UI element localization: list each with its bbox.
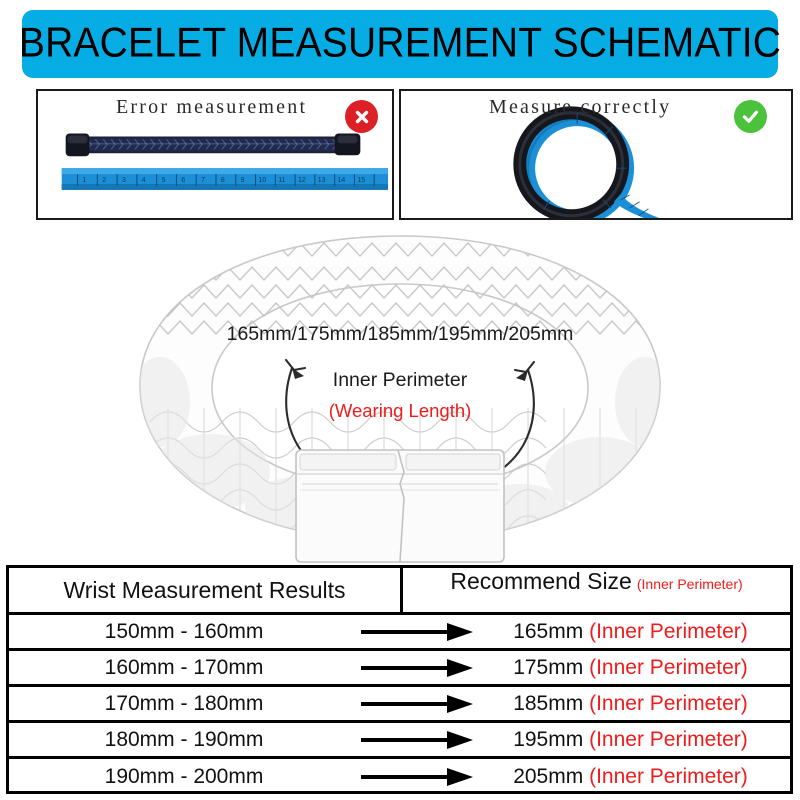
cell-size-note: (Inner Perimeter)	[589, 692, 748, 715]
cell-size-value: 205mm	[513, 765, 583, 788]
bracelet-size-options-label: 165mm/175mm/185mm/195mm/205mm	[0, 323, 800, 346]
comparison-panel-correct: Measure correctly	[399, 89, 793, 220]
inner-perimeter-label: Inner Perimeter	[0, 369, 800, 392]
arrow-right-icon	[361, 770, 473, 784]
column-header-recommend-size: Recommend Size (Inner Perimeter)	[403, 568, 790, 612]
cross-icon	[345, 100, 378, 133]
svg-text:4: 4	[142, 177, 146, 184]
size-recommendation-table: Wrist Measurement Results Recommend Size…	[6, 565, 793, 794]
table-row: 190mm - 200mm 205mm (Inner Perimeter)	[9, 759, 790, 795]
panel-caption-correct: Measure correctly	[489, 96, 671, 119]
cell-recommend-size: 175mm (Inner Perimeter)	[477, 656, 784, 680]
cell-recommend-size: 195mm (Inner Perimeter)	[477, 728, 784, 752]
cell-size-note: (Inner Perimeter)	[589, 656, 748, 679]
cell-recommend-size: 185mm (Inner Perimeter)	[477, 692, 784, 716]
column-header-recommend-size-main: Recommend Size	[450, 568, 632, 595]
table-header-row: Wrist Measurement Results Recommend Size…	[9, 568, 790, 615]
table-row: 170mm - 180mm 185mm (Inner Perimeter)	[9, 687, 790, 723]
header-banner: BRACELET MEASUREMENT SCHEMATIC	[22, 10, 778, 78]
cell-wrist-measurement: 160mm - 170mm	[9, 656, 359, 680]
svg-text:7: 7	[201, 177, 205, 184]
cell-wrist-measurement: 150mm - 160mm	[9, 620, 359, 644]
svg-text:2: 2	[102, 177, 106, 184]
svg-text:3: 3	[122, 177, 126, 184]
bracelet-drawing	[0, 222, 800, 565]
svg-text:15: 15	[357, 177, 365, 184]
svg-text:12: 12	[298, 177, 306, 184]
svg-text:13: 13	[318, 177, 326, 184]
cell-size-value: 195mm	[513, 728, 583, 751]
cell-size-value: 185mm	[513, 692, 583, 715]
cell-size-note: (Inner Perimeter)	[589, 728, 748, 751]
bracelet-illustration: 165mm/175mm/185mm/195mm/205mm Inner Peri…	[0, 222, 800, 565]
svg-text:5: 5	[162, 177, 166, 184]
comparison-panel-error: 123 456 789 101112 131415 Error measurem…	[36, 89, 394, 220]
cell-size-value: 175mm	[513, 656, 583, 679]
table-row: 160mm - 170mm 175mm (Inner Perimeter)	[9, 651, 790, 687]
table-row: 150mm - 160mm 165mm (Inner Perimeter)	[9, 615, 790, 651]
arrow-right-icon	[361, 625, 473, 639]
arrow-right-icon	[361, 661, 473, 675]
panel-caption-error: Error measurement	[116, 96, 307, 119]
cell-wrist-measurement: 170mm - 180mm	[9, 692, 359, 716]
svg-text:6: 6	[181, 177, 185, 184]
svg-text:10: 10	[258, 177, 266, 184]
column-header-recommend-size-note: (Inner Perimeter)	[637, 576, 743, 592]
svg-text:1: 1	[82, 177, 86, 184]
arrow-right-icon	[361, 697, 473, 711]
svg-text:9: 9	[241, 177, 245, 184]
table-row: 180mm - 190mm 195mm (Inner Perimeter)	[9, 723, 790, 759]
wearing-length-label: (Wearing Length)	[0, 400, 800, 422]
cell-wrist-measurement: 180mm - 190mm	[9, 728, 359, 752]
check-icon	[734, 100, 767, 133]
cell-wrist-measurement: 190mm - 200mm	[9, 765, 359, 789]
cell-size-note: (Inner Perimeter)	[589, 620, 748, 643]
cell-size-value: 165mm	[513, 620, 583, 643]
svg-text:11: 11	[278, 177, 285, 184]
page-title: BRACELET MEASUREMENT SCHEMATIC	[19, 21, 781, 68]
cell-recommend-size: 205mm (Inner Perimeter)	[477, 765, 784, 789]
svg-text:14: 14	[338, 177, 346, 184]
arrow-right-icon	[361, 733, 473, 747]
svg-text:8: 8	[221, 177, 225, 184]
cell-size-note: (Inner Perimeter)	[589, 765, 748, 788]
column-header-wrist-measurement: Wrist Measurement Results	[9, 568, 403, 612]
cell-recommend-size: 165mm (Inner Perimeter)	[477, 620, 784, 644]
